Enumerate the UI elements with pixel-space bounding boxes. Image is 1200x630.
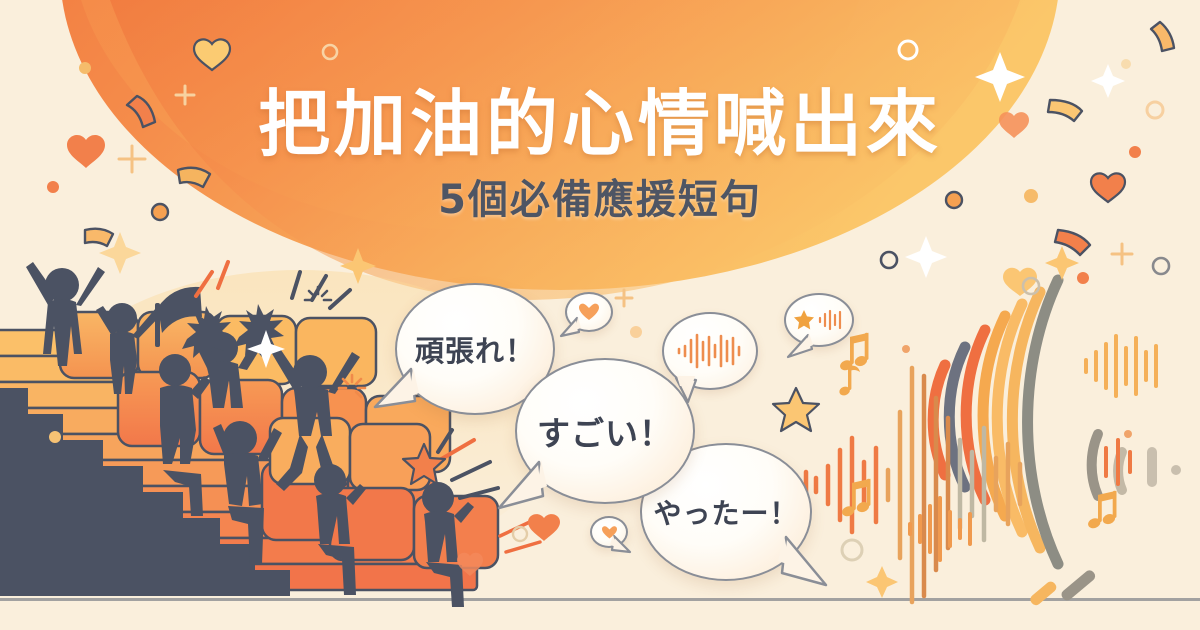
bubble-text: すごい！ — [537, 407, 673, 455]
bubble-tail — [369, 363, 429, 419]
mini-bubble-waveform — [662, 312, 758, 390]
ribbon-icon — [85, 229, 113, 246]
bubble-text: 頑張れ！ — [415, 328, 535, 370]
ground-line — [0, 598, 1200, 601]
bubble-tail — [772, 533, 836, 595]
bubble-text: やったー！ — [653, 492, 798, 532]
bubble-tail — [610, 534, 634, 556]
star-waveform-icon — [793, 309, 845, 331]
bubble-tail — [782, 333, 822, 361]
waveform-icon — [675, 332, 745, 370]
poster-canvas: 把加油的心情喊出來 5個必備應援短句 頑張れ！ すごい！ やったー！ — [0, 0, 1200, 630]
speech-bubble-sugoi: すごい！ — [515, 358, 695, 504]
bubble-tail — [557, 316, 585, 340]
mini-bubble-heart — [565, 292, 613, 332]
mini-bubble-star-waveform — [784, 293, 854, 347]
mini-bubble-heart-small — [590, 516, 628, 548]
bubble-tail — [491, 456, 555, 516]
